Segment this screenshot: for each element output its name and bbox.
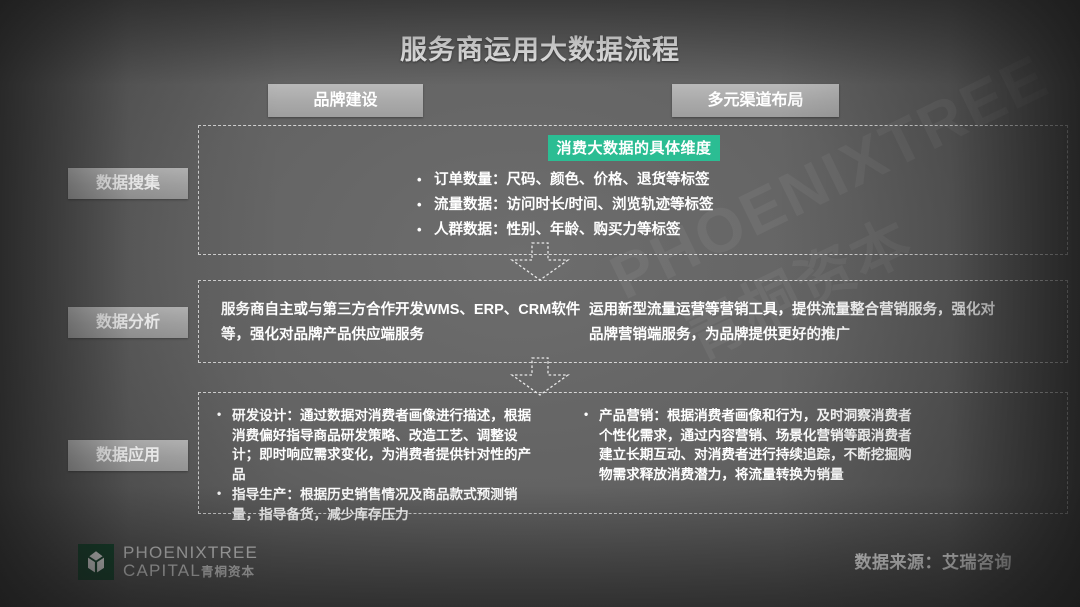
list-item: 流量数据：访问时长/时间、浏览轨迹等标签 <box>417 193 714 218</box>
analysis-text-left: 服务商自主或与第三方合作开发WMS、ERP、CRM软件等，强化对品牌产品供应端服… <box>221 298 601 348</box>
list-item: 人群数据：性别、年龄、购买力等标签 <box>417 218 714 243</box>
panel-data-analysis: 服务商自主或与第三方合作开发WMS、ERP、CRM软件等，强化对品牌产品供应端服… <box>198 280 1068 363</box>
panel-data-collection: 消费大数据的具体维度 订单数量：尺码、颜色、价格、退货等标签 流量数据：访问时长… <box>198 125 1068 255</box>
application-bullet-list-left: 研发设计：通过数据对消费者画像进行描述，根据消费偏好指导商品研发策略、改造工艺、… <box>217 406 532 525</box>
list-item: 产品营销：根据消费者画像和行为，及时洞察消费者个性化需求，通过内容营销、场景化营… <box>584 406 924 484</box>
highlight-container: 消费大数据的具体维度 <box>199 135 1069 161</box>
logo-wordmark: PHOENIXTREE CAPITAL青桐资本 <box>123 544 258 579</box>
page-title: 服务商运用大数据流程 <box>0 28 1080 67</box>
application-bullet-list-right: 产品营销：根据消费者画像和行为，及时洞察消费者个性化需求，通过内容营销、场景化营… <box>584 406 924 485</box>
data-source-label: 数据来源：艾瑞咨询 <box>855 548 1013 573</box>
phoenixtree-cube-icon <box>78 544 114 580</box>
stage-label-data-collection: 数据搜集 <box>68 168 188 199</box>
stage-label-data-application: 数据应用 <box>68 440 188 471</box>
stage-label-data-analysis: 数据分析 <box>68 307 188 338</box>
chip-multi-channel-layout: 多元渠道布局 <box>672 84 839 117</box>
highlight-badge: 消费大数据的具体维度 <box>548 135 719 161</box>
logo-line-2: CAPITAL <box>123 561 201 580</box>
analysis-text-right: 运用新型流量运营等营销工具，提供流量整合营销服务，强化对品牌营销端服务，为品牌提… <box>589 298 1009 348</box>
chip-brand-building: 品牌建设 <box>268 84 423 117</box>
list-item: 指导生产：根据历史销售情况及商品款式预测销量，指导备货，减少库存压力 <box>217 485 532 524</box>
panel-data-application: 研发设计：通过数据对消费者画像进行描述，根据消费偏好指导商品研发策略、改造工艺、… <box>198 392 1068 514</box>
list-item: 订单数量：尺码、颜色、价格、退货等标签 <box>417 168 714 193</box>
logo: PHOENIXTREE CAPITAL青桐资本 <box>78 544 258 580</box>
footer-divider <box>0 527 1080 528</box>
collection-bullet-list: 订单数量：尺码、颜色、价格、退货等标签 流量数据：访问时长/时间、浏览轨迹等标签… <box>417 168 714 243</box>
list-item: 研发设计：通过数据对消费者画像进行描述，根据消费偏好指导商品研发策略、改造工艺、… <box>217 406 532 484</box>
logo-line-1: PHOENIXTREE <box>123 544 258 562</box>
logo-line-cn: 青桐资本 <box>201 565 255 579</box>
slide-canvas: PHOENIXTREE 青桐资本 服务商运用大数据流程 品牌建设 多元渠道布局 … <box>0 0 1080 607</box>
